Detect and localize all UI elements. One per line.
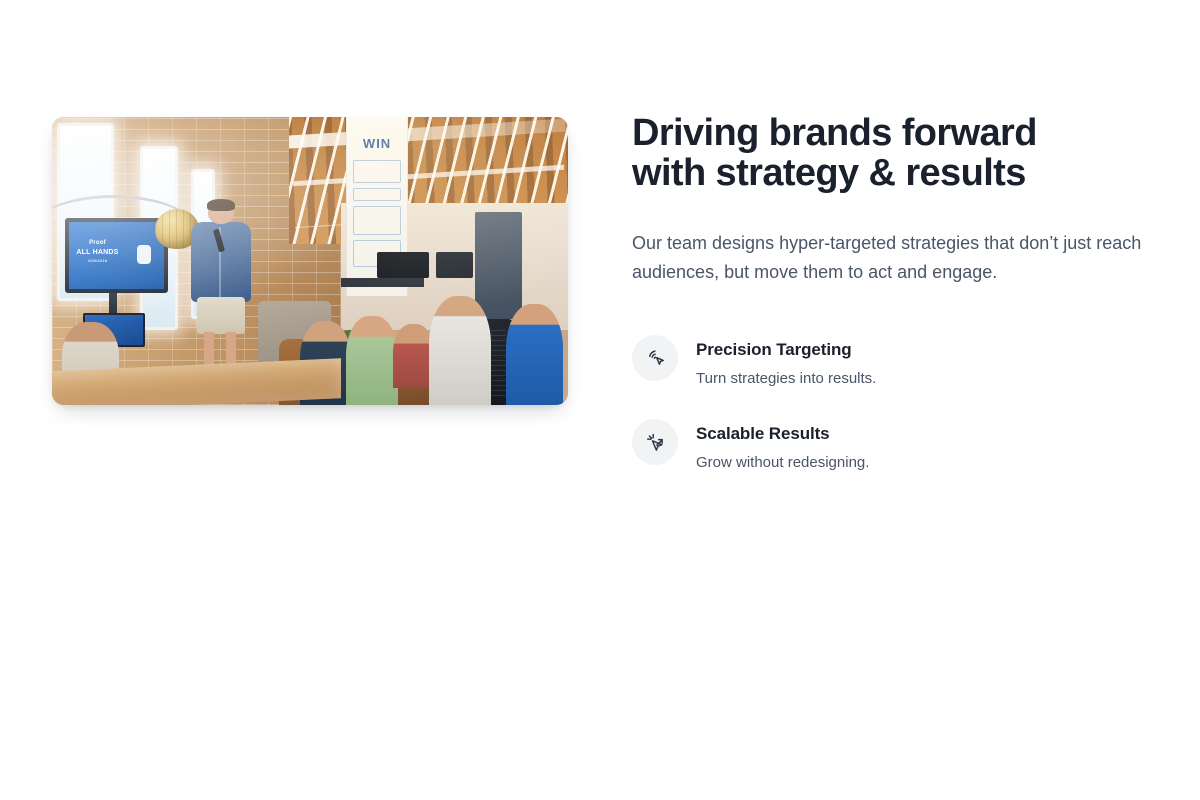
feature-description: Turn strategies into results. bbox=[696, 369, 876, 389]
feature-list: Precision Targeting Turn strategies into… bbox=[632, 337, 1152, 473]
media-column: WIN Proof ALL HANDS 4/20/2018 bbox=[52, 117, 568, 405]
photo-presenter-leg bbox=[204, 332, 214, 367]
photo-presenter-shirt bbox=[191, 222, 250, 302]
feature-item-scalable-results: Scalable Results Grow without redesignin… bbox=[632, 421, 1152, 473]
feature-title: Scalable Results bbox=[696, 424, 830, 443]
photo-presenter bbox=[189, 201, 254, 368]
photo-presenter-hair bbox=[207, 199, 235, 211]
photo-audience-member bbox=[346, 316, 398, 405]
feature-description: Grow without redesigning. bbox=[696, 453, 869, 473]
office-meeting-photo: WIN Proof ALL HANDS 4/20/2018 bbox=[52, 117, 568, 405]
feature-text-block: Precision Targeting Turn strategies into… bbox=[696, 337, 876, 389]
feature-section: WIN Proof ALL HANDS 4/20/2018 bbox=[0, 0, 1200, 800]
photo-doorway bbox=[475, 212, 521, 319]
photo-slide-subtitle: ALL HANDS bbox=[75, 248, 121, 258]
cursor-tap-icon-badge bbox=[632, 335, 678, 381]
photo-slide-date: 4/20/2018 bbox=[75, 258, 121, 264]
photo-banner-word: WIN bbox=[347, 137, 407, 150]
headline-line-1: Driving brands forward bbox=[632, 113, 1152, 153]
cursor-tap-icon bbox=[645, 348, 666, 369]
photo-slide-glyph bbox=[137, 245, 151, 264]
feature-text-block: Scalable Results Grow without redesignin… bbox=[696, 421, 869, 473]
cursor-motion-icon-badge bbox=[632, 419, 678, 465]
photo-presenter-shorts bbox=[197, 297, 245, 334]
photo-audience-member bbox=[506, 304, 563, 405]
photo-monitor bbox=[436, 252, 472, 278]
photo-audience-member bbox=[429, 296, 491, 405]
photo-banner-doodle bbox=[353, 160, 401, 183]
feature-title: Precision Targeting bbox=[696, 340, 852, 359]
photo-banner-doodle bbox=[353, 206, 401, 235]
photo-monitor bbox=[377, 252, 429, 278]
copy-column: Driving brands forward with strategy & r… bbox=[632, 113, 1152, 473]
section-headline: Driving brands forward with strategy & r… bbox=[632, 113, 1152, 193]
cursor-motion-icon bbox=[645, 432, 666, 453]
photo-audience-member bbox=[393, 324, 434, 387]
section-subcopy: Our team designs hyper-targeted strategi… bbox=[632, 229, 1148, 287]
hero-image-frame: WIN Proof ALL HANDS 4/20/2018 bbox=[52, 117, 568, 405]
headline-line-2: with strategy & results bbox=[632, 153, 1152, 193]
photo-desk bbox=[341, 278, 424, 287]
feature-item-precision-targeting: Precision Targeting Turn strategies into… bbox=[632, 337, 1152, 389]
photo-banner-doodle bbox=[353, 188, 401, 200]
